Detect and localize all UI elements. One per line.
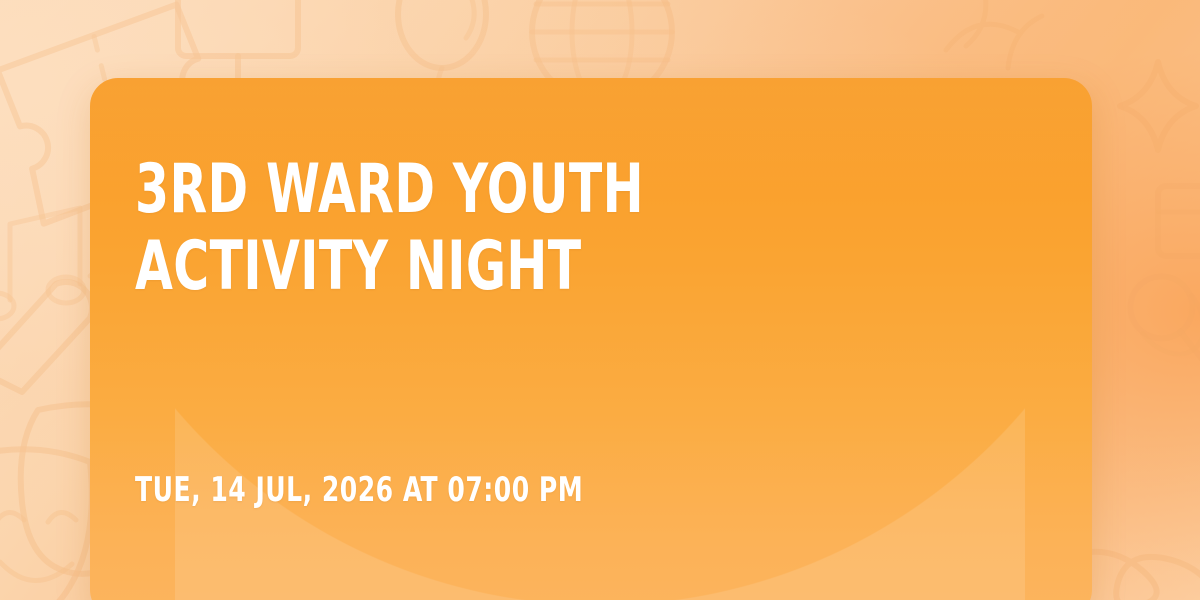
event-title: 3rd Ward Youth Activity Night: [135, 152, 775, 306]
event-banner: 3rd Ward Youth Activity Night Tue, 14 Ju…: [0, 0, 1200, 600]
event-card-content: 3rd Ward Youth Activity Night Tue, 14 Ju…: [135, 78, 1047, 600]
event-date: Tue, 14 Jul, 2026 at 07:00 PM: [135, 470, 583, 510]
event-card: 3rd Ward Youth Activity Night Tue, 14 Ju…: [90, 78, 1092, 600]
